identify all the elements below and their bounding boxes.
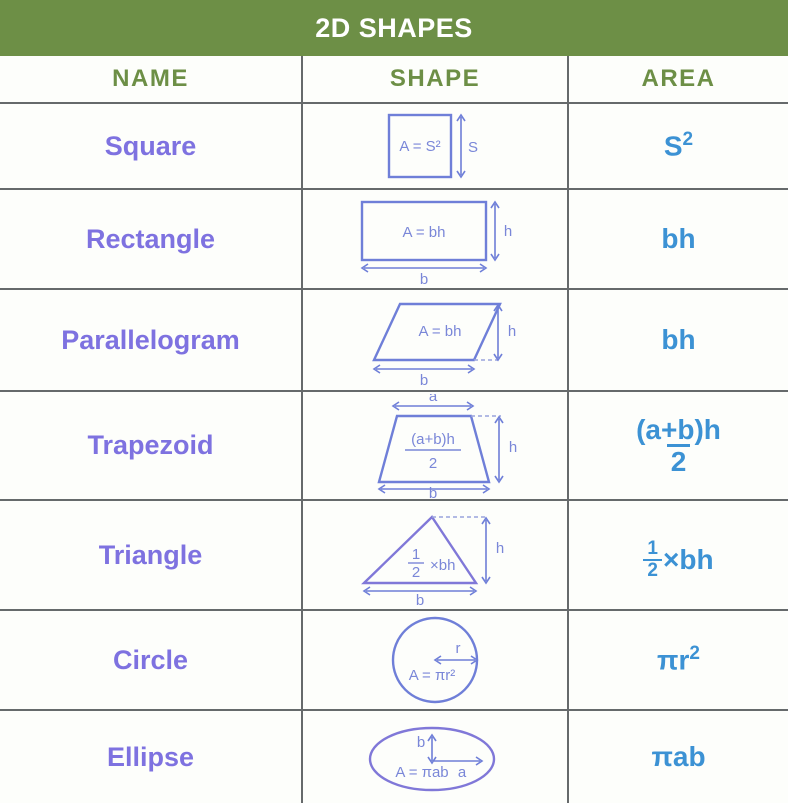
shape-name-ellipse: Ellipse <box>0 710 302 803</box>
area-inline-expression: 1 2 ×bh <box>643 539 713 581</box>
area-fraction-numerator: 1 <box>643 539 662 559</box>
shape-figure-cell-triangle: 1 2 ×bh h b <box>302 500 568 610</box>
page-title-bar: 2D SHAPES <box>0 0 788 56</box>
area-fraction-denominator: 2 <box>667 444 691 476</box>
triangle-base-label: b <box>416 592 424 605</box>
table-row: Ellipse b a A = πab πab <box>0 710 788 803</box>
shapes-reference-sheet: 2D SHAPES NAME SHAPE AREA Square A = S² <box>0 0 788 790</box>
column-header-name: NAME <box>0 56 302 103</box>
parallelogram-base-label: b <box>420 372 428 386</box>
shape-name-square: Square <box>0 103 302 189</box>
table-row: Trapezoid a (a+b)h 2 <box>0 391 788 500</box>
area-fraction-denominator: 2 <box>643 559 662 581</box>
ellipse-formula-label: A = πab <box>395 764 448 781</box>
table-row: Rectangle A = bh h b bh <box>0 189 788 289</box>
shape-name-circle: Circle <box>0 610 302 710</box>
trapezoid-formula-numerator: (a+b)h <box>411 431 455 448</box>
circle-radius-label: r <box>456 640 461 657</box>
shape-name-parallelogram: Parallelogram <box>0 289 302 391</box>
shape-name-trapezoid: Trapezoid <box>0 391 302 500</box>
column-header-area: AREA <box>568 56 788 103</box>
triangle-formula-numerator: 1 <box>412 546 420 563</box>
area-fraction: (a+b)h 2 <box>632 415 725 477</box>
triangle-figure: 1 2 ×bh h b <box>342 505 528 605</box>
area-fraction-numerator: (a+b)h <box>632 415 725 444</box>
table-header-row: NAME SHAPE AREA <box>0 56 788 103</box>
ellipse-figure: b a A = πab <box>350 715 520 799</box>
parallelogram-formula-label: A = bh <box>419 323 462 340</box>
rectangle-height-label: h <box>504 223 512 240</box>
triangle-formula-denominator: 2 <box>412 564 420 581</box>
shape-area-square: S2 <box>568 103 788 189</box>
trapezoid-formula-denominator: 2 <box>429 455 437 472</box>
table-row: Square A = S² S S2 <box>0 103 788 189</box>
shape-name-triangle: Triangle <box>0 500 302 610</box>
shape-area-triangle: 1 2 ×bh <box>568 500 788 610</box>
area-exponent: 2 <box>689 643 700 664</box>
circle-figure: r A = πr² <box>360 614 510 706</box>
trapezoid-height-label: h <box>509 439 517 456</box>
table-row: Triangle 1 2 ×bh h <box>0 500 788 610</box>
square-figure: A = S² S <box>355 106 515 186</box>
table-row: Circle r A = πr² πr2 <box>0 610 788 710</box>
trapezoid-top-label: a <box>429 394 438 405</box>
shape-area-rectangle: bh <box>568 189 788 289</box>
shape-figure-cell-parallelogram: A = bh h b <box>302 289 568 391</box>
triangle-height-label: h <box>496 540 504 557</box>
triangle-formula-tail: ×bh <box>430 557 455 574</box>
column-header-shape: SHAPE <box>302 56 568 103</box>
shape-name-rectangle: Rectangle <box>0 189 302 289</box>
ellipse-major-label: a <box>458 764 467 781</box>
rectangle-base-label: b <box>420 271 428 284</box>
shape-figure-cell-ellipse: b a A = πab <box>302 710 568 803</box>
shapes-table: NAME SHAPE AREA Square A = S² S <box>0 56 788 803</box>
rectangle-formula-label: A = bh <box>403 224 446 241</box>
parallelogram-height-label: h <box>508 323 516 340</box>
trapezoid-base-label: b <box>429 485 437 498</box>
page-title: 2D SHAPES <box>315 13 473 44</box>
rectangle-figure: A = bh h b <box>340 194 530 284</box>
ellipse-minor-label: b <box>417 734 425 751</box>
shape-figure-cell-trapezoid: a (a+b)h 2 h b <box>302 391 568 500</box>
parallelogram-figure: A = bh h b <box>340 294 530 386</box>
square-formula-label: A = S² <box>399 138 440 155</box>
shape-area-parallelogram: bh <box>568 289 788 391</box>
shape-area-ellipse: πab <box>568 710 788 803</box>
area-base: S <box>664 131 683 162</box>
area-expression-tail: ×bh <box>663 544 714 576</box>
area-fraction: 1 2 <box>643 539 662 581</box>
shape-figure-cell-rectangle: A = bh h b <box>302 189 568 289</box>
circle-formula-label: A = πr² <box>409 667 456 684</box>
area-exponent: 2 <box>683 129 694 150</box>
trapezoid-figure: a (a+b)h 2 h b <box>347 394 523 498</box>
shape-area-trapezoid: (a+b)h 2 <box>568 391 788 500</box>
shape-figure-cell-circle: r A = πr² <box>302 610 568 710</box>
shape-figure-cell-square: A = S² S <box>302 103 568 189</box>
shape-area-circle: πr2 <box>568 610 788 710</box>
square-side-label: S <box>468 139 478 156</box>
area-base: πr <box>657 645 689 676</box>
table-row: Parallelogram A = bh h b <box>0 289 788 391</box>
